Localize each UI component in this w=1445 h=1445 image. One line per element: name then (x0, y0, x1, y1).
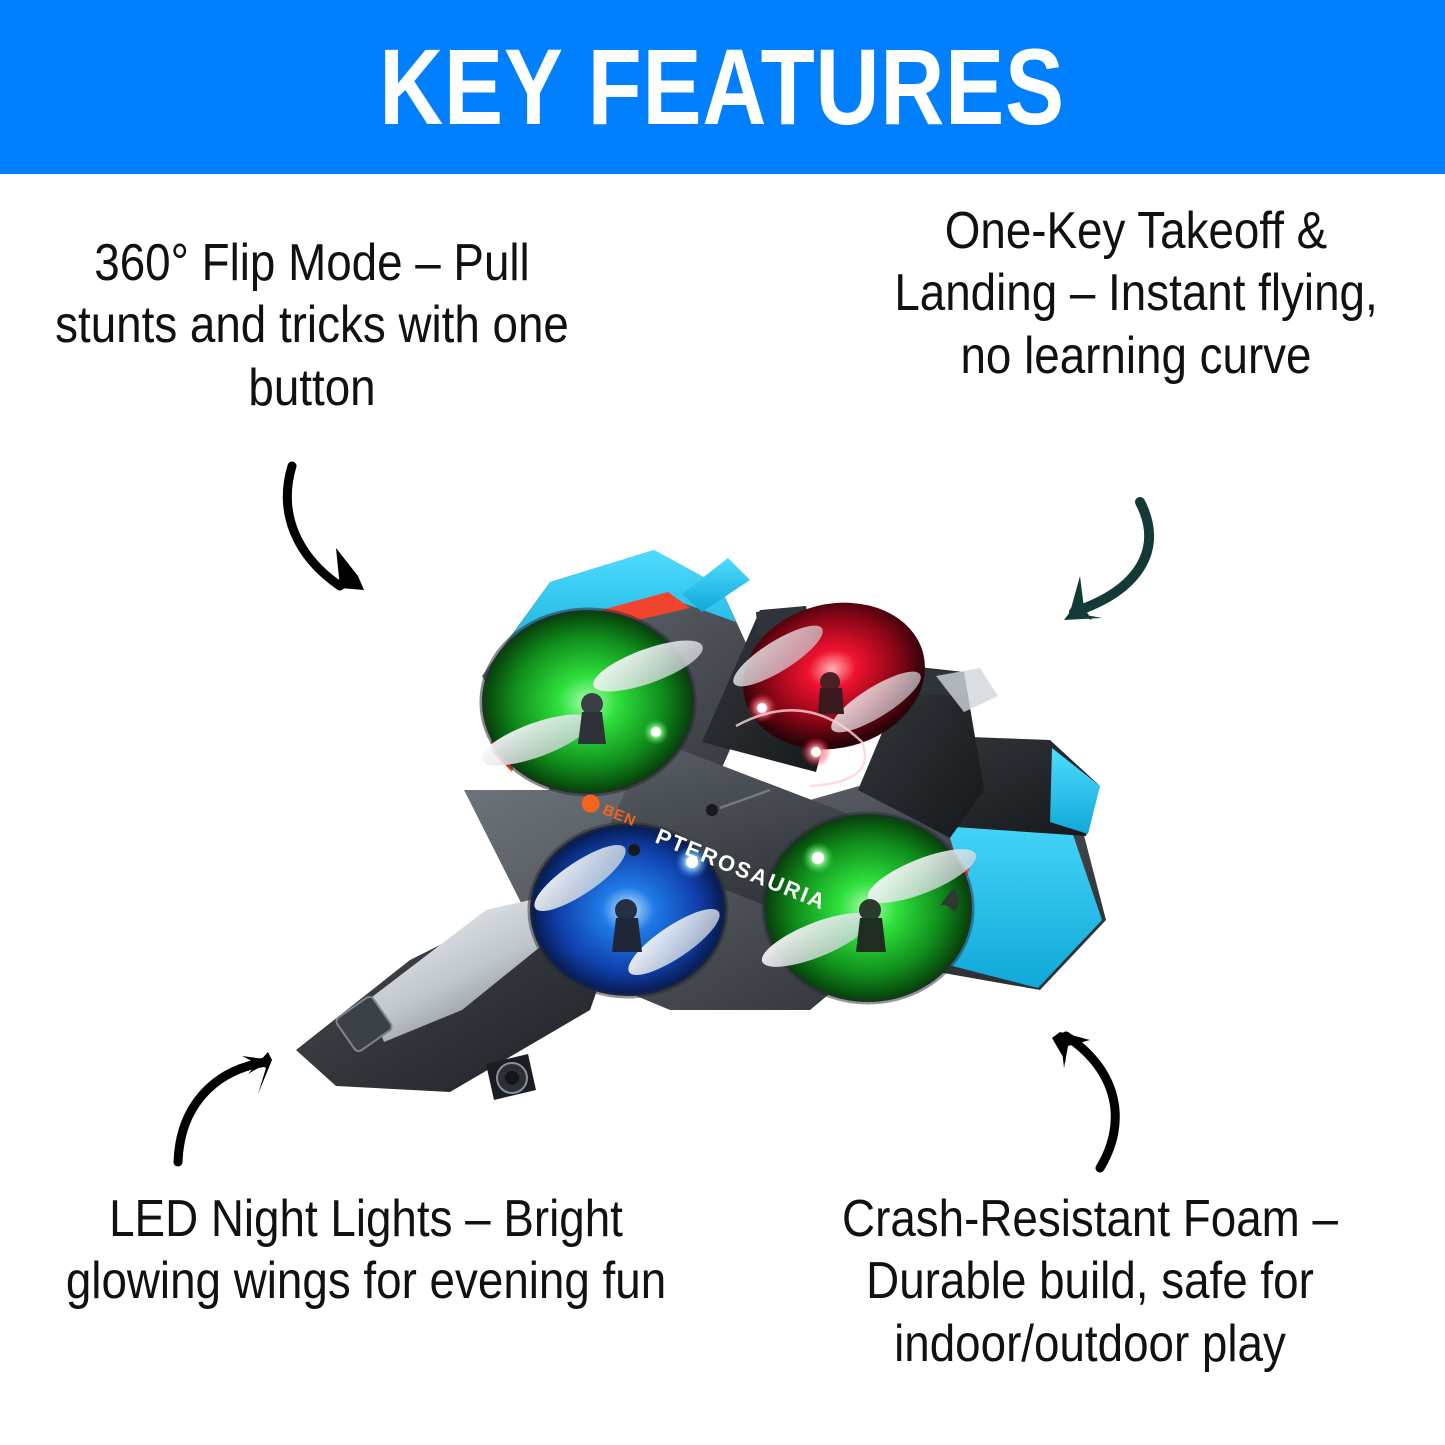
curved-arrow-down-right-icon (252, 452, 432, 632)
page-title: KEY FEATURES (380, 33, 1066, 141)
curved-arrow-up-right-icon (146, 1034, 326, 1194)
body-dot-1 (628, 844, 640, 856)
feature-caption-led-lights: LED Night Lights – Bright glowing wings … (53, 1188, 680, 1313)
curved-arrow-up-left-icon (1022, 1012, 1182, 1192)
feature-caption-flip-mode: 360° Flip Mode – Pull stunts and tricks … (41, 232, 583, 419)
curved-arrow-down-left-icon (1002, 486, 1202, 646)
body-dot-2 (706, 804, 718, 816)
tail-boom-cyan (1050, 748, 1100, 834)
feature-caption-one-key: One-Key Takeoff & Landing – Instant flyi… (881, 200, 1391, 387)
airframe (296, 550, 1106, 1100)
header-banner: KEY FEATURES (0, 0, 1445, 174)
feature-caption-crash-foam: Crash-Resistant Foam – Durable build, sa… (800, 1188, 1381, 1375)
